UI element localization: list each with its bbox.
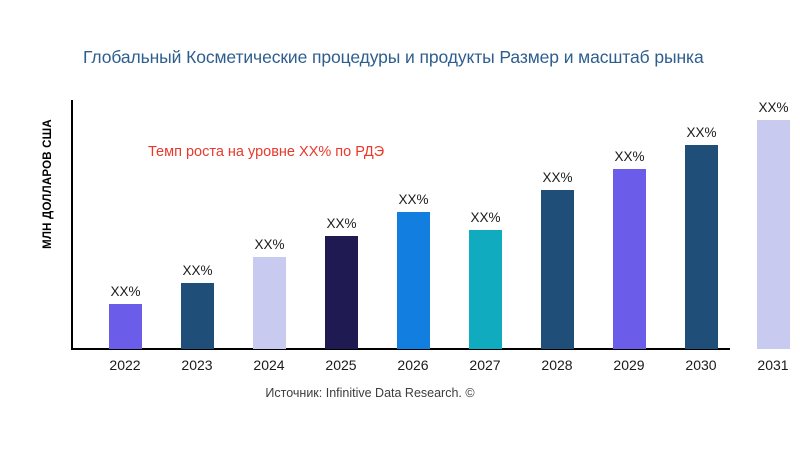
bar-value-label: XX% — [254, 237, 284, 252]
bar-2026[interactable] — [397, 212, 430, 349]
bar-2031[interactable] — [757, 120, 790, 349]
bar-value-label: XX% — [110, 284, 140, 299]
x-tick-2029: 2029 — [589, 357, 669, 373]
y-axis-label: МЛН ДОЛЛАРОВ США — [42, 64, 54, 304]
growth-rate-annotation: Темп роста на уровне XX% по РДЭ — [148, 144, 384, 160]
bar-value-label: XX% — [758, 100, 788, 115]
x-tick-2025: 2025 — [301, 357, 381, 373]
bar-2022[interactable] — [109, 304, 142, 349]
x-tick-2024: 2024 — [229, 357, 309, 373]
bar-2025[interactable] — [325, 236, 358, 349]
bar-2029[interactable] — [613, 169, 646, 349]
bar-2027[interactable] — [469, 230, 502, 349]
bar-value-label: XX% — [470, 210, 500, 225]
bar-value-label: XX% — [542, 170, 572, 185]
bar-value-label: XX% — [398, 192, 428, 207]
chart-container: Глобальный Косметические процедуры и про… — [0, 0, 800, 450]
bar-value-label: XX% — [614, 149, 644, 164]
x-tick-2022: 2022 — [85, 357, 165, 373]
plot-area: XX% XX% XX% XX% XX% XX% XX% XX% — [71, 100, 800, 349]
x-tick-2028: 2028 — [517, 357, 597, 373]
bar-2030[interactable] — [685, 145, 718, 349]
bar-2024[interactable] — [253, 257, 286, 349]
bar-value-label: XX% — [686, 125, 716, 140]
x-tick-2030: 2030 — [661, 357, 741, 373]
source-note: Источник: Infinitive Data Research. © — [0, 386, 740, 400]
x-tick-2026: 2026 — [373, 357, 453, 373]
bar-2023[interactable] — [181, 283, 214, 349]
bar-value-label: XX% — [182, 263, 212, 278]
x-tick-2023: 2023 — [157, 357, 237, 373]
bar-value-label: XX% — [326, 216, 356, 231]
bar-2028[interactable] — [541, 190, 574, 349]
chart-title: Глобальный Косметические процедуры и про… — [83, 47, 800, 68]
x-tick-2027: 2027 — [445, 357, 525, 373]
x-tick-2031: 2031 — [733, 357, 800, 373]
